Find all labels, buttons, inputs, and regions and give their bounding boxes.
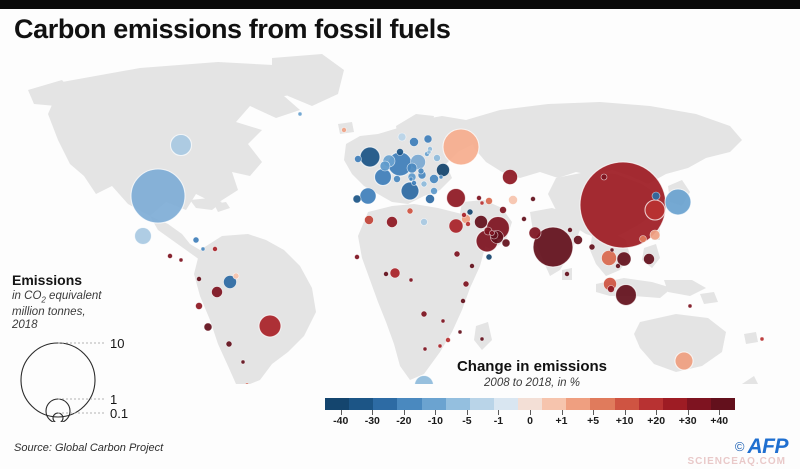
map-bubble — [397, 149, 404, 156]
size-legend-subtitle: in CO2 equivalent million tonnes, 2018 — [12, 290, 142, 332]
color-legend-tick-labels: -40-30-20-10-5-10+1+5+10+20+30+40 — [325, 415, 735, 431]
map-bubble — [390, 268, 400, 278]
color-swatch — [470, 398, 494, 410]
map-bubble — [241, 360, 245, 364]
size-legend-label-01: 0.1 — [110, 406, 128, 421]
afp-logo: AFP — [748, 436, 789, 457]
size-legend-label-10: 10 — [110, 336, 124, 351]
color-swatch — [422, 398, 446, 410]
map-bubble — [365, 216, 374, 225]
color-swatch — [590, 398, 614, 410]
map-bubble — [424, 135, 432, 143]
map-bubble — [574, 236, 583, 245]
map-bubble — [760, 337, 764, 341]
map-bubble — [168, 254, 173, 259]
infographic-root: Carbon emissions from fossil fuels — [0, 0, 800, 469]
map-bubble — [608, 286, 615, 293]
map-bubble — [509, 196, 518, 205]
map-bubble — [449, 219, 463, 233]
map-bubble — [196, 303, 203, 310]
map-bubble — [360, 188, 376, 204]
map-bubble — [441, 319, 445, 323]
map-bubble — [380, 161, 390, 171]
map-bubble — [431, 188, 438, 195]
color-swatch — [639, 398, 663, 410]
map-bubble — [423, 347, 427, 351]
size-legend-circles — [10, 332, 160, 422]
map-bubble — [522, 217, 527, 222]
map-bubble — [410, 138, 419, 147]
map-bubble — [480, 201, 484, 205]
site-watermark: SCIENCEAQ.COM — [687, 456, 786, 467]
color-swatch — [663, 398, 687, 410]
map-bubble — [439, 175, 443, 179]
map-bubble — [438, 344, 442, 348]
map-bubble — [644, 254, 655, 265]
color-swatch — [687, 398, 711, 410]
color-swatch — [542, 398, 566, 410]
color-legend-tick-label: 0 — [527, 415, 533, 427]
map-bubble — [131, 169, 185, 223]
map-bubble — [418, 168, 424, 174]
map-bubble — [421, 219, 428, 226]
color-legend-subtitle: 2008 to 2018, in % — [322, 377, 742, 389]
map-bubble — [463, 281, 469, 287]
color-swatch — [518, 398, 542, 410]
map-bubble — [197, 277, 202, 282]
map-bubble — [409, 278, 413, 282]
map-bubble — [421, 311, 427, 317]
map-bubble — [434, 155, 441, 162]
map-bubble — [355, 255, 360, 260]
map-bubble — [665, 189, 691, 215]
map-bubble — [204, 323, 212, 331]
map-bubble — [421, 181, 427, 187]
color-legend-tick-label: -30 — [365, 415, 380, 427]
map-bubble — [500, 207, 507, 214]
map-bubble — [353, 195, 361, 203]
map-bubble — [384, 272, 389, 277]
color-swatch — [711, 398, 735, 410]
map-bubble — [467, 209, 473, 215]
map-bubble — [360, 147, 380, 167]
map-bubble — [212, 287, 223, 298]
color-legend-tick-label: +20 — [647, 415, 665, 427]
map-bubble — [226, 341, 232, 347]
color-legend-tick-label: +5 — [587, 415, 599, 427]
map-bubble — [171, 135, 192, 156]
size-legend-sub-tonnes: million tonnes, — [12, 306, 86, 318]
color-swatch — [566, 398, 590, 410]
map-bubble — [486, 254, 492, 260]
map-bubble — [466, 222, 471, 227]
map-bubble — [565, 272, 570, 277]
map-bubble — [427, 150, 431, 154]
color-legend-tick-label: -10 — [428, 415, 443, 427]
map-bubble — [529, 227, 541, 239]
map-bubble — [375, 169, 392, 186]
map-bubble — [213, 247, 218, 252]
source-credit: Source: Global Carbon Project — [14, 442, 163, 454]
top-black-bar — [0, 0, 800, 9]
map-bubble — [437, 164, 450, 177]
map-bubble — [430, 175, 439, 184]
size-legend-sub-co2: in CO — [12, 290, 41, 302]
map-bubble — [486, 198, 493, 205]
color-legend-tick-label: -20 — [396, 415, 411, 427]
map-bubble — [477, 196, 482, 201]
map-bubble — [650, 230, 660, 240]
color-legend-heading: Change in emissions — [322, 358, 742, 375]
size-legend-label-1: 1 — [110, 392, 117, 407]
color-legend-tick-label: +40 — [710, 415, 728, 427]
color-swatch — [373, 398, 397, 410]
map-bubble — [201, 247, 205, 251]
map-bubble — [688, 304, 692, 308]
emissions-size-legend: Emissions in CO2 equivalent million tonn… — [10, 272, 170, 422]
map-bubble — [462, 213, 467, 218]
color-swatch — [494, 398, 518, 410]
map-bubble — [458, 330, 462, 334]
color-legend-tick-label: +1 — [556, 415, 568, 427]
map-bubble — [398, 133, 406, 141]
map-bubble — [446, 338, 451, 343]
map-bubble — [616, 285, 637, 306]
color-swatch — [615, 398, 639, 410]
color-swatch — [349, 398, 373, 410]
map-bubble — [387, 217, 398, 228]
map-bubble — [447, 189, 466, 208]
map-bubble — [475, 216, 488, 229]
map-bubble — [490, 231, 495, 236]
map-bubble — [233, 273, 239, 279]
map-bubble — [502, 239, 510, 247]
map-bubble — [355, 156, 362, 163]
color-legend-tick-label: -5 — [462, 415, 471, 427]
color-legend-tick-label: +30 — [679, 415, 697, 427]
color-legend-tick-label: +10 — [616, 415, 634, 427]
map-bubble — [407, 163, 417, 173]
map-bubble — [426, 195, 435, 204]
size-legend-sub-equiv: equivalent — [46, 290, 102, 302]
map-bubble — [480, 337, 484, 341]
size-legend-heading: Emissions — [12, 272, 82, 288]
map-bubble — [616, 264, 621, 269]
map-bubble — [259, 315, 281, 337]
map-bubble — [610, 248, 614, 252]
map-bubble — [407, 208, 413, 214]
map-bubble — [640, 236, 647, 243]
map-bubble — [645, 200, 665, 220]
change-color-legend: Change in emissions 2008 to 2018, in % -… — [322, 358, 742, 436]
map-bubble — [342, 128, 347, 133]
color-swatch — [397, 398, 421, 410]
afp-credit: © AFP — [735, 436, 788, 457]
map-bubble — [601, 174, 607, 180]
page-title: Carbon emissions from fossil fuels — [14, 14, 451, 45]
color-legend-tick-label: -1 — [494, 415, 503, 427]
map-bubble — [409, 177, 413, 181]
map-bubble — [602, 251, 617, 266]
map-bubble — [394, 176, 401, 183]
map-bubble — [179, 258, 183, 262]
map-bubble — [568, 228, 573, 233]
color-swatch — [446, 398, 470, 410]
map-bubble — [531, 197, 536, 202]
map-bubble — [401, 182, 419, 200]
map-bubble — [193, 237, 199, 243]
map-bubble — [443, 129, 479, 165]
map-bubble — [589, 244, 595, 250]
map-bubble — [652, 192, 660, 200]
color-legend-tick-label: -40 — [333, 415, 348, 427]
map-bubble — [503, 170, 518, 185]
map-bubble — [470, 264, 475, 269]
map-bubble — [461, 299, 466, 304]
map-bubble — [454, 251, 460, 257]
color-swatch — [325, 398, 349, 410]
map-bubble — [412, 181, 417, 186]
size-legend-sub-year: 2018 — [12, 319, 38, 331]
map-bubble — [298, 112, 302, 116]
copyright-icon: © — [735, 440, 745, 453]
color-legend-gradient-bar — [325, 398, 735, 410]
map-bubble — [135, 228, 152, 245]
